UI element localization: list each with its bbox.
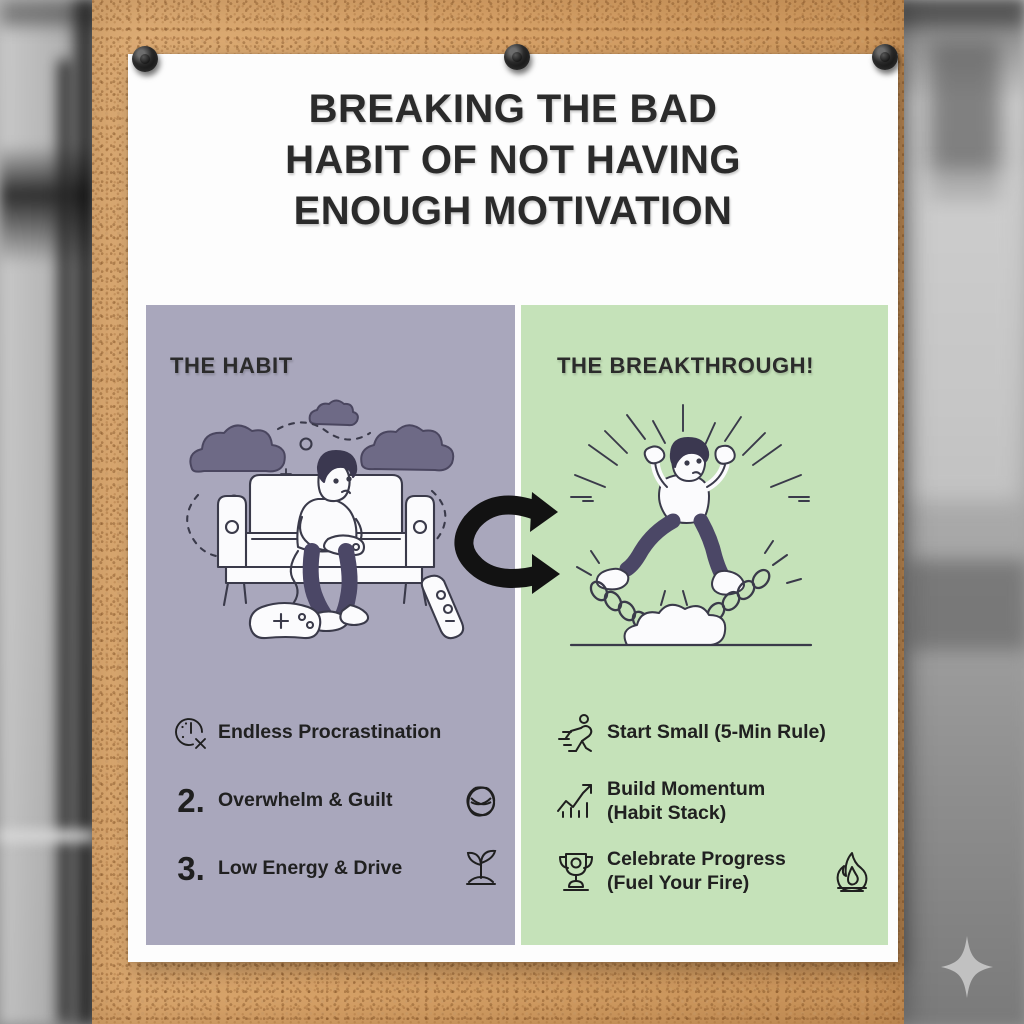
flame-icon: [829, 850, 875, 892]
list-item-label: Endless Procrastination: [218, 720, 458, 744]
list-item[interactable]: Celebrate Progress(Fuel Your Fire): [545, 847, 875, 895]
list-item[interactable]: 3. Low Energy & Drive: [164, 845, 504, 891]
title-line-1: BREAKING THE BAD: [128, 84, 898, 135]
list-item-label: Build Momentum(Habit Stack): [607, 777, 875, 825]
list-item[interactable]: 2. Overwhelm & Guilt: [164, 777, 504, 823]
list-item-label: Celebrate Progress(Fuel Your Fire): [607, 847, 829, 895]
window-sill: [0, 830, 96, 842]
tangled-knot-icon: [458, 781, 504, 819]
sprout-icon: [458, 848, 504, 888]
office-background-left-window: [0, 0, 96, 1024]
list-item-label: Low Energy & Drive: [218, 856, 458, 880]
push-pin-center: [504, 44, 530, 70]
breakthrough-list: Start Small (5-Min Rule) Build Momentum(…: [545, 709, 875, 917]
curved-double-arrow-icon: [452, 488, 592, 600]
list-item[interactable]: Start Small (5-Min Rule): [545, 709, 875, 755]
habit-list: Endless Procrastination 2. Overwhelm & G…: [164, 709, 504, 913]
sparkle-icon: [941, 936, 993, 998]
running-person-icon: [545, 711, 607, 753]
office-desk-blur: [908, 560, 1024, 650]
list-item[interactable]: Endless Procrastination: [164, 709, 504, 755]
title-line-2: HABIT OF NOT HAVING: [128, 135, 898, 186]
list-item-number: 3.: [177, 852, 205, 885]
list-item[interactable]: Build Momentum(Habit Stack): [545, 777, 875, 825]
person-on-couch-gaming-illustration: [170, 399, 490, 649]
list-item-label-line1: Build Momentum: [607, 778, 765, 800]
window-mullion: [58, 60, 72, 1024]
screenshot-root: BREAKING THE BAD HABIT OF NOT HAVING ENO…: [0, 0, 1024, 1024]
list-item-number: 2.: [177, 784, 205, 817]
breakthrough-panel-heading: THE BREAKTHROUGH!: [557, 353, 814, 379]
list-item-label: Start Small (5-Min Rule): [607, 720, 875, 744]
title-line-3: ENOUGH MOTIVATION: [128, 186, 898, 237]
trophy-icon: [545, 849, 607, 893]
list-item-label-line2: (Habit Stack): [607, 802, 726, 824]
list-item-label: Overwhelm & Guilt: [218, 788, 458, 812]
push-pin-left: [132, 46, 158, 72]
clock-x-icon: [164, 713, 218, 751]
list-item-label-line2: (Fuel Your Fire): [607, 872, 749, 894]
office-right-window: [905, 170, 1020, 500]
breakthrough-panel: THE BREAKTHROUGH!: [521, 305, 888, 945]
habit-panel: THE HABIT: [146, 305, 515, 945]
person-breaking-chains-illustration: [565, 401, 850, 651]
list-item-label-line1: Celebrate Progress: [607, 848, 786, 870]
push-pin-right: [872, 44, 898, 70]
growth-chart-arrow-icon: [545, 779, 607, 823]
habit-panel-heading: THE HABIT: [170, 353, 293, 379]
page-title: BREAKING THE BAD HABIT OF NOT HAVING ENO…: [128, 84, 898, 237]
